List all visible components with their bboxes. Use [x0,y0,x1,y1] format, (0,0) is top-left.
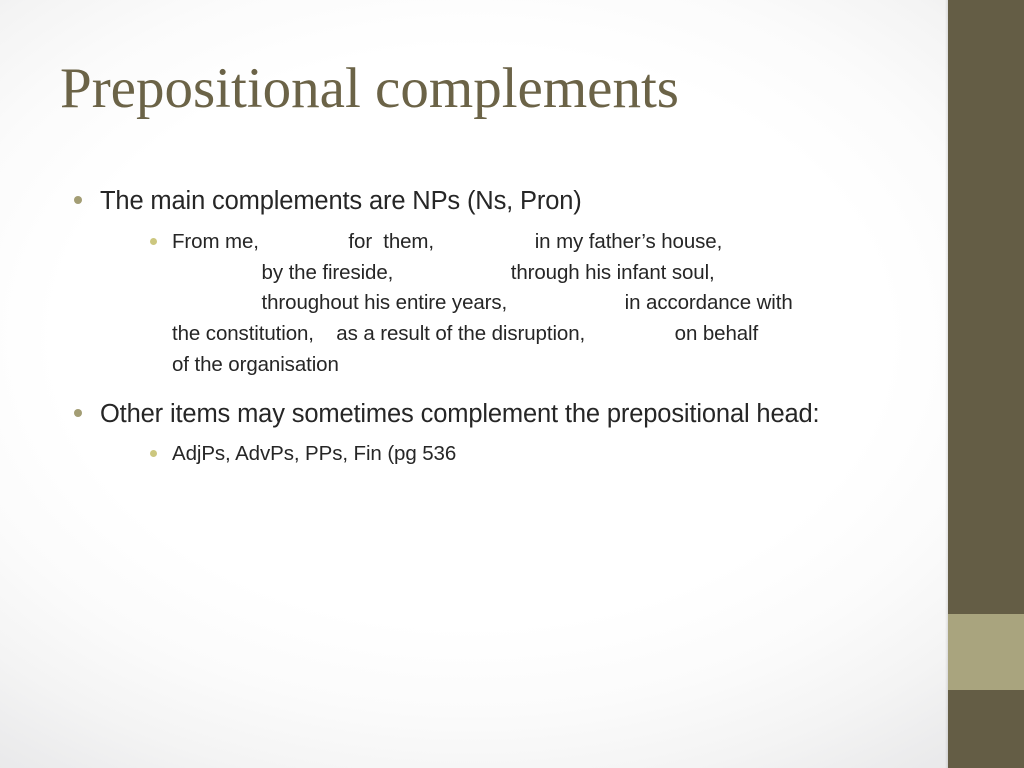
bullet-text: Other items may sometimes complement the… [100,395,890,434]
bullet-level1-other-items: Other items may sometimes complement the… [62,395,922,434]
slide-title: Prepositional complements [60,58,920,120]
bullet-dot-icon [150,450,157,457]
bullet-dot-icon [74,409,82,417]
sidebar-band-top [948,0,1024,614]
bullet-text: The main complements are NPs (Ns, Pron) [100,182,890,221]
slide-canvas: Prepositional complements The main compl… [0,0,1024,768]
bullet-text: AdjPs, AdvPs, PPs, Fin (pg 536 [172,439,912,470]
bullet-dot-icon [74,196,82,204]
slide-body: The main complements are NPs (Ns, Pron) … [62,182,922,478]
bullet-level1-main-complements: The main complements are NPs (Ns, Pron) [62,182,922,221]
bullet-text: From me, for them, in my father’s house,… [172,227,912,381]
sidebar-band-bottom [948,690,1024,768]
bullet-level2-np-examples: From me, for them, in my father’s house,… [62,227,922,381]
decorative-sidebar [948,0,1024,768]
bullet-level2-other-phrase-types: AdjPs, AdvPs, PPs, Fin (pg 536 [62,439,922,470]
bullet-dot-icon [150,238,157,245]
sidebar-band-middle [948,614,1024,690]
